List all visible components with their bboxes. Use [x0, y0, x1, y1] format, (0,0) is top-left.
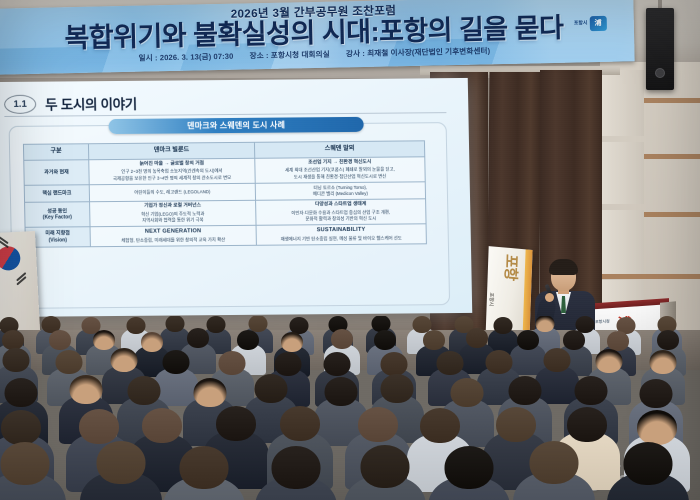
slide-title: 두 도시의 이야기 — [45, 93, 137, 114]
cell-denmark: 기업가 정신과 로컬 거버넌스혁신 기업(LEGO)의 주도적 노력과지역사회와… — [90, 201, 256, 227]
col-header-category: 구분 — [23, 144, 88, 161]
banner-logo: 포항시 浦 — [574, 12, 620, 35]
audience-member — [513, 441, 595, 500]
banner-logo-mark: 浦 — [589, 15, 606, 30]
audience-member — [255, 446, 337, 500]
city-flag-glyph: 포항 — [502, 250, 517, 283]
table-body: 과거와 현재늙어진 마을 → 글로벌 창의 거점인구 2~3천 명의 농목축업 … — [24, 157, 427, 248]
col-header-denmark: 덴마크 빌룬드 — [88, 142, 254, 159]
cell-sweden: 조선업 기지 → 친환경 혁신도시세계 최대 조선산업 기지(코쿰스) 폐쇄로 … — [255, 157, 426, 183]
city-flag-subtext: 포항시 — [488, 292, 495, 306]
table-row: 과거와 현재늙어진 마을 → 글로벌 창의 거점인구 2~3천 명의 농목축업 … — [24, 157, 425, 185]
table-row: 성공 동인(Key Factor)기업가 정신과 로컬 거버넌스혁신 기업(LE… — [25, 199, 426, 227]
cell-denmark: 늙어진 마을 → 글로벌 창의 거점인구 2~3천 명의 농목축업 소농지역(간… — [89, 158, 255, 184]
audience-member — [163, 446, 245, 500]
audience-member — [80, 441, 162, 500]
slide-section-badge: 1.1 — [4, 94, 36, 113]
audience — [0, 316, 700, 500]
row-category: 핵심 랜드마크 — [24, 185, 89, 203]
cell-denmark: 어린이들의 수도, 레고랜드 (LEGOLAND) — [89, 183, 255, 202]
banner-detail-date: 일시 : 2026. 3. 13(금) 07:30 — [139, 52, 234, 63]
slide-comparison-table: 구분 덴마크 빌룬드 스웨덴 말뫼 과거와 현재늙어진 마을 → 글로벌 창의 … — [23, 140, 427, 248]
audience-member — [0, 442, 66, 500]
table-row: 미래 지향점(Vision)NEXT GENERATION체험형, 탄소중립, … — [25, 224, 426, 248]
banner-detail-lecturer: 강사 : 최재철 이사장(재단법인 기후변화센터) — [346, 46, 490, 58]
cell-sweden: SUSTAINABILITY재생에너지 기반 탄소중립 실현, 메싱 물류 및 … — [256, 224, 426, 246]
slide-pill-header: 덴마크와 스웨덴의 도시 사례 — [108, 117, 363, 134]
audience-member — [607, 442, 689, 500]
row-category: 과거와 현재 — [24, 160, 89, 185]
taeguk-symbol — [0, 242, 25, 274]
conference-photo: 2026년 3월 간부공무원 조찬포럼 복합위기와 불확실성의 시대:포항의 길… — [0, 0, 700, 500]
cell-denmark: NEXT GENERATION체험형, 탄소중립, 미래세대를 위한 창의적 교… — [90, 225, 256, 247]
banner-detail-place: 장소 : 포항시청 대회의실 — [250, 50, 330, 61]
audience-member — [344, 445, 426, 500]
row-category: 성공 동인(Key Factor) — [25, 202, 90, 227]
cell-sweden: 다양성과 스타트업 생태계이민자·다문화 수용과 스타트업 중심의 산업 구조 … — [255, 199, 426, 225]
audience-member — [428, 446, 510, 500]
projection-screen: 1.1 두 도시의 이야기 덴마크와 스웨덴의 도시 사례 구분 덴마크 빌룬드… — [0, 78, 472, 317]
banner-logo-text: 포항시 — [574, 21, 588, 26]
ceiling-speaker — [646, 8, 674, 90]
col-header-sweden: 스웨덴 말뫼 — [254, 141, 424, 158]
cell-sweden: 터닝 토르소 (Turning Torso),메디콘 밸리 (Medicon V… — [255, 182, 425, 201]
slide-header: 1.1 두 도시의 이야기 — [4, 90, 458, 114]
